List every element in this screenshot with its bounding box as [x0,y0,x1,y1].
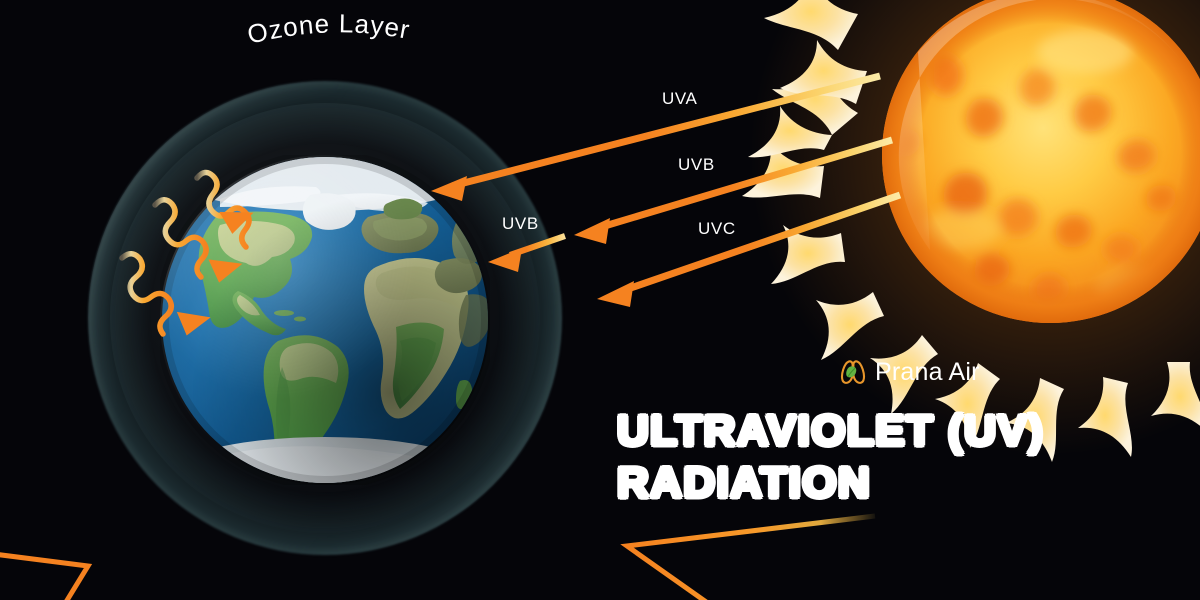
chevron-bottom-center [627,516,875,600]
ozone-layer-label-text: Ozone Layer [244,8,412,49]
corner-bracket-left [0,551,88,600]
title-line-2: RADIATION [617,457,1056,509]
uvc-label: UVC [698,219,736,239]
lungs-leaf-icon [838,359,868,387]
uva-label: UVA [662,89,698,109]
title-line-1: ULTRAVIOLET (UV) [617,405,1056,457]
uvb-label: UVB [678,155,715,175]
svg-text:Ozone Layer: Ozone Layer [244,8,412,49]
ozone-layer-label: Ozone Layer [140,4,520,94]
brand-name: Prana Air [875,358,980,387]
reflected-wave-1 [197,172,253,247]
uvb-inner-label: UVB [502,214,539,234]
uva-ray-arrow [431,76,880,201]
uvb-inner-ray-arrow [488,236,565,272]
brand-logo[interactable]: Prana Air [838,358,980,387]
page-title: ULTRAVIOLET (UV) RADIATION [617,405,1047,509]
infographic-canvas: Ozone Layer UVA UVB UVB UVC Prana Air UL… [0,0,1200,600]
